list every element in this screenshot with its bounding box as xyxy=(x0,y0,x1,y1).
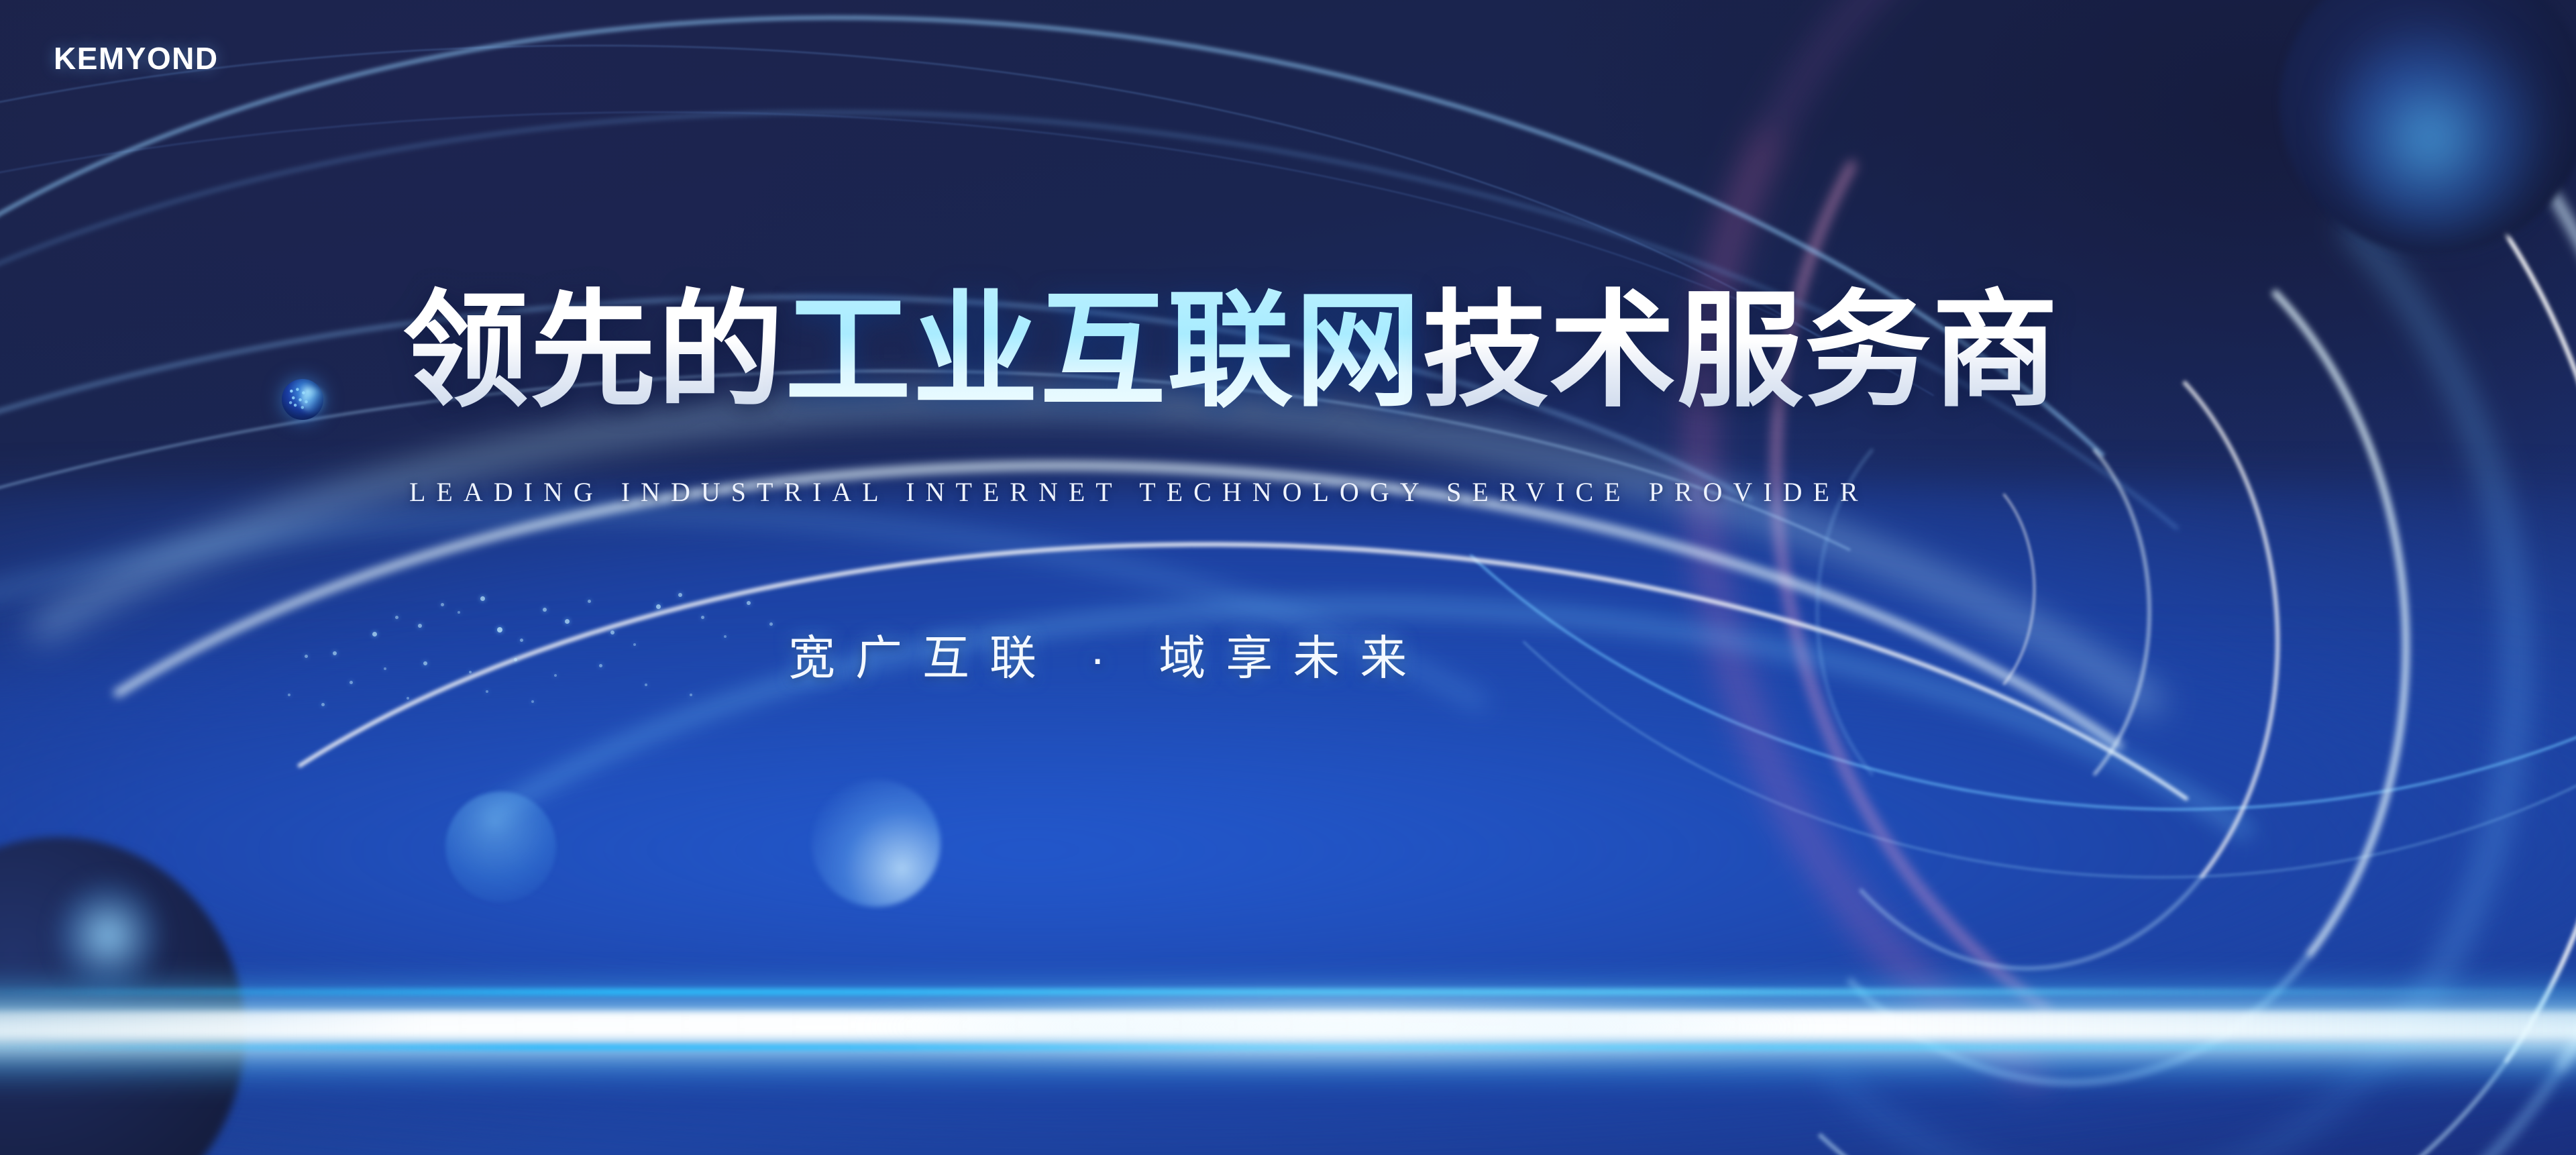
particle-dot xyxy=(690,694,692,696)
hero-copy: 领先的工业互联网技术服务商 LEADING INDUSTRIAL INTERNE… xyxy=(0,0,2576,1155)
thin-arc-line xyxy=(1309,0,2576,919)
light-beam-cyan-edge xyxy=(0,989,2576,995)
light-beam-cyan-edge xyxy=(0,1044,2576,1050)
particle-dot xyxy=(384,667,386,670)
particle-dot xyxy=(531,700,534,703)
particle-dot xyxy=(305,655,308,658)
light-beam-hotspot xyxy=(824,997,1855,1057)
light-ribbon xyxy=(253,591,2478,1155)
light-ribbon xyxy=(0,429,2386,1155)
particle-dot xyxy=(747,601,751,605)
thin-arc-line xyxy=(1248,0,2576,867)
light-beam-glow xyxy=(0,970,2576,1091)
vortex-ribbon xyxy=(1532,0,2576,1155)
translucent-sphere xyxy=(812,779,941,906)
particle-dot xyxy=(497,627,502,632)
light-ribbon xyxy=(0,0,2453,1155)
particle-dot xyxy=(554,674,557,677)
headline-segment-2: 工业互联网 xyxy=(785,280,1422,421)
lower-blue-mass xyxy=(0,485,2576,1155)
page-title: 领先的工业互联网技术服务商 xyxy=(402,285,2214,417)
left-sweep-arc xyxy=(0,203,2105,1155)
vortex-ribbon xyxy=(1855,462,2035,716)
headline-subtitle: LEADING INDUSTRIAL INTERNET TECHNOLOGY S… xyxy=(409,476,1869,508)
particle-dot xyxy=(633,643,636,646)
top-right-sphere xyxy=(2279,0,2576,254)
light-ribbon xyxy=(0,346,2445,1155)
particle-dot xyxy=(724,635,727,638)
particle-dot xyxy=(701,616,704,619)
particle-dot xyxy=(588,600,591,603)
pink-light-arc xyxy=(1536,0,2576,1155)
particle-dot xyxy=(441,603,444,606)
particle-dot xyxy=(769,622,773,626)
particle-dot xyxy=(372,632,377,637)
particle-dot xyxy=(520,639,523,642)
light-ribbon xyxy=(0,11,2530,1155)
particle-dot xyxy=(395,616,398,619)
brand-logo[interactable]: KEMYOND xyxy=(54,40,219,76)
vortex-ribbon xyxy=(1690,167,2432,1103)
particle-dot xyxy=(418,624,422,628)
particle-dot xyxy=(645,683,647,686)
sphere-rim-glow xyxy=(54,878,162,993)
network-globe-icon xyxy=(282,379,323,420)
headline-segment-3: 技术服务商 xyxy=(1422,280,2059,421)
particle-dot xyxy=(480,596,485,601)
particle-dot xyxy=(486,690,488,693)
thin-arc-line xyxy=(0,22,2362,1155)
particle-dot xyxy=(423,661,427,665)
particle-dot xyxy=(469,671,472,673)
vortex-ribbon xyxy=(1816,392,2151,831)
particle-dot xyxy=(333,651,337,655)
particle-dot xyxy=(288,694,290,696)
light-ribbon xyxy=(41,522,2432,1155)
glowing-orb-icon xyxy=(2331,17,2550,237)
light-beam-core xyxy=(0,1011,2576,1037)
headline-segment-1: 领先的 xyxy=(402,280,785,421)
vortex-ribbon xyxy=(1753,292,2291,979)
pink-light-arc xyxy=(1656,0,2576,1155)
background-art xyxy=(0,0,2576,1155)
particle-dot xyxy=(599,664,602,667)
vortex-ribbon xyxy=(1611,63,2563,1155)
particle-dot xyxy=(656,604,661,609)
particle-dots xyxy=(270,555,837,716)
particle-dot xyxy=(407,697,409,700)
particle-dot xyxy=(458,611,460,614)
particle-dot xyxy=(514,658,517,661)
translucent-sphere xyxy=(445,791,556,902)
particle-dot xyxy=(610,630,614,635)
particle-dot xyxy=(350,681,353,684)
left-sweep-arc xyxy=(0,251,2214,1155)
brand-tagline: 宽广互联 · 域享未来 xyxy=(788,620,1427,688)
hero-banner: KEMYOND 领先的工业互联网技术服务商 LEADING INDUSTRIAL… xyxy=(0,0,2576,1155)
dark-sphere xyxy=(0,837,245,1155)
lower-blue-mass-2 xyxy=(0,670,2576,1155)
particle-dot xyxy=(565,619,570,624)
particle-dot xyxy=(678,593,682,597)
particle-dot xyxy=(321,703,325,706)
vortex-ribbon xyxy=(1452,0,2576,1155)
left-sweep-arc xyxy=(0,444,1782,1155)
particle-dot xyxy=(543,608,547,612)
globe-crescent-highlight xyxy=(301,388,325,414)
thin-arc-line xyxy=(0,0,2246,1155)
